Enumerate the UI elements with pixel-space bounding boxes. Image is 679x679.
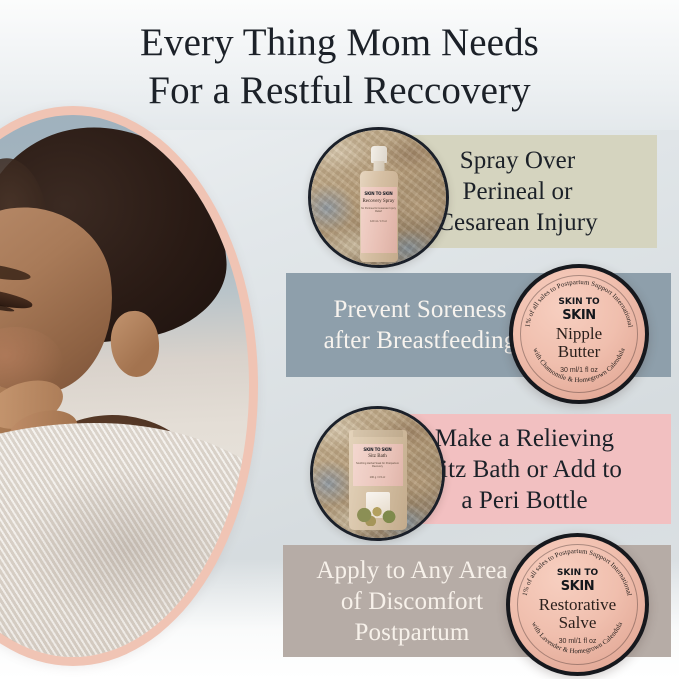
tin-face-restorative-salve: SKIN TO SKIN Restorative Salve 30 ml/1 f… [517, 544, 638, 665]
tin-product-name: Nipple Butter [556, 325, 602, 361]
bottle-subtitle: for Perineal & Cesarean Injury Relief [361, 207, 397, 214]
feature-line: Make a Relieving [435, 425, 614, 452]
tin-name-line-2: Butter [558, 342, 601, 361]
pouch-label: SKIN TO SKIN Sitz Bath Soothing Herbal S… [353, 444, 403, 486]
feature-row-list: Spray Over Perineal or Cesarean Injury S… [0, 0, 679, 679]
tin-brand: SKIN TO SKIN [557, 565, 598, 593]
product-tin-nipple-butter[interactable]: 1% of all sales to Postpartum Support In… [509, 264, 649, 404]
feature-line: a Peri Bottle [461, 487, 587, 514]
bottle-label: SKIN TO SKIN Recovery Spray for Perineal… [361, 187, 397, 253]
product-tin-restorative-salve[interactable]: 1% of all sales to Postpartum Support In… [506, 533, 649, 676]
tin-brand-line-1: SKIN TO [558, 297, 599, 307]
bottle-product-name: Recovery Spray [362, 199, 394, 205]
product-circle-recovery-spray[interactable]: SKIN TO SKIN Recovery Spray for Perineal… [308, 127, 449, 268]
tin-brand-line-1: SKIN TO [557, 568, 598, 578]
product-circle-sitz-bath[interactable]: SKIN TO SKIN Sitz Bath Soothing Herbal S… [310, 406, 445, 541]
bottle-brand: SKIN TO SKIN [364, 192, 392, 196]
bottle-size: 120 ml / 4 fl oz [370, 220, 387, 223]
feature-line: of Discomfort [341, 588, 483, 615]
tin-size: 30 ml/1 fl oz [560, 367, 598, 374]
tin-brand-line-2: SKIN [561, 579, 595, 594]
feature-text-sitz-bath: Make a Relieving Sitz Bath or Add to a P… [417, 423, 632, 516]
tin-brand-line-2: SKIN [562, 308, 596, 323]
feature-line: Prevent Soreness [333, 296, 506, 323]
feature-line: after Breastfeeding [324, 327, 517, 354]
feature-line: Spray Over [460, 147, 576, 174]
recovery-spray-bottle: SKIN TO SKIN Recovery Spray for Perineal… [360, 146, 398, 262]
feature-line: Perineal or [462, 178, 572, 205]
feature-line: Apply to Any Area [316, 557, 507, 584]
tin-product-name: Restorative Salve [539, 596, 616, 632]
feature-line: Sitz Bath or Add to [427, 456, 622, 483]
bottle-body: SKIN TO SKIN Recovery Spray for Perineal… [360, 171, 398, 262]
pouch-brand: SKIN TO SKIN [363, 448, 391, 452]
tin-name-line-2: Salve [559, 613, 597, 632]
tin-face-nipple-butter: SKIN TO SKIN Nipple Butter 30 ml/1 fl oz [520, 275, 638, 393]
pouch-size: 100 g / 3.5 oz [370, 476, 386, 479]
feature-line: Postpartum [355, 619, 470, 646]
feature-text-restorative-salve: Apply to Any Area of Discomfort Postpart… [297, 555, 527, 648]
infographic-poster: Every Thing Mom Needs For a Restful Recc… [0, 0, 679, 679]
sitz-bath-pouch: SKIN TO SKIN Sitz Bath Soothing Herbal S… [349, 430, 407, 530]
pouch-subtitle: Soothing Herbal Soak for Postpartum Reco… [353, 462, 403, 469]
feature-text-recovery-spray: Spray Over Perineal or Cesarean Injury [427, 145, 607, 238]
tin-brand: SKIN TO SKIN [558, 294, 599, 322]
pouch-product-name: Sitz Bath [368, 454, 386, 460]
feature-line: Cesarean Injury [437, 209, 597, 236]
pouch-herbs [355, 504, 401, 526]
tin-name-line-1: Restorative [539, 595, 616, 614]
feature-text-nipple-butter: Prevent Soreness after Breastfeeding [310, 294, 530, 356]
tin-size: 30 ml/1 fl oz [559, 638, 597, 645]
tin-name-line-1: Nipple [556, 324, 602, 343]
